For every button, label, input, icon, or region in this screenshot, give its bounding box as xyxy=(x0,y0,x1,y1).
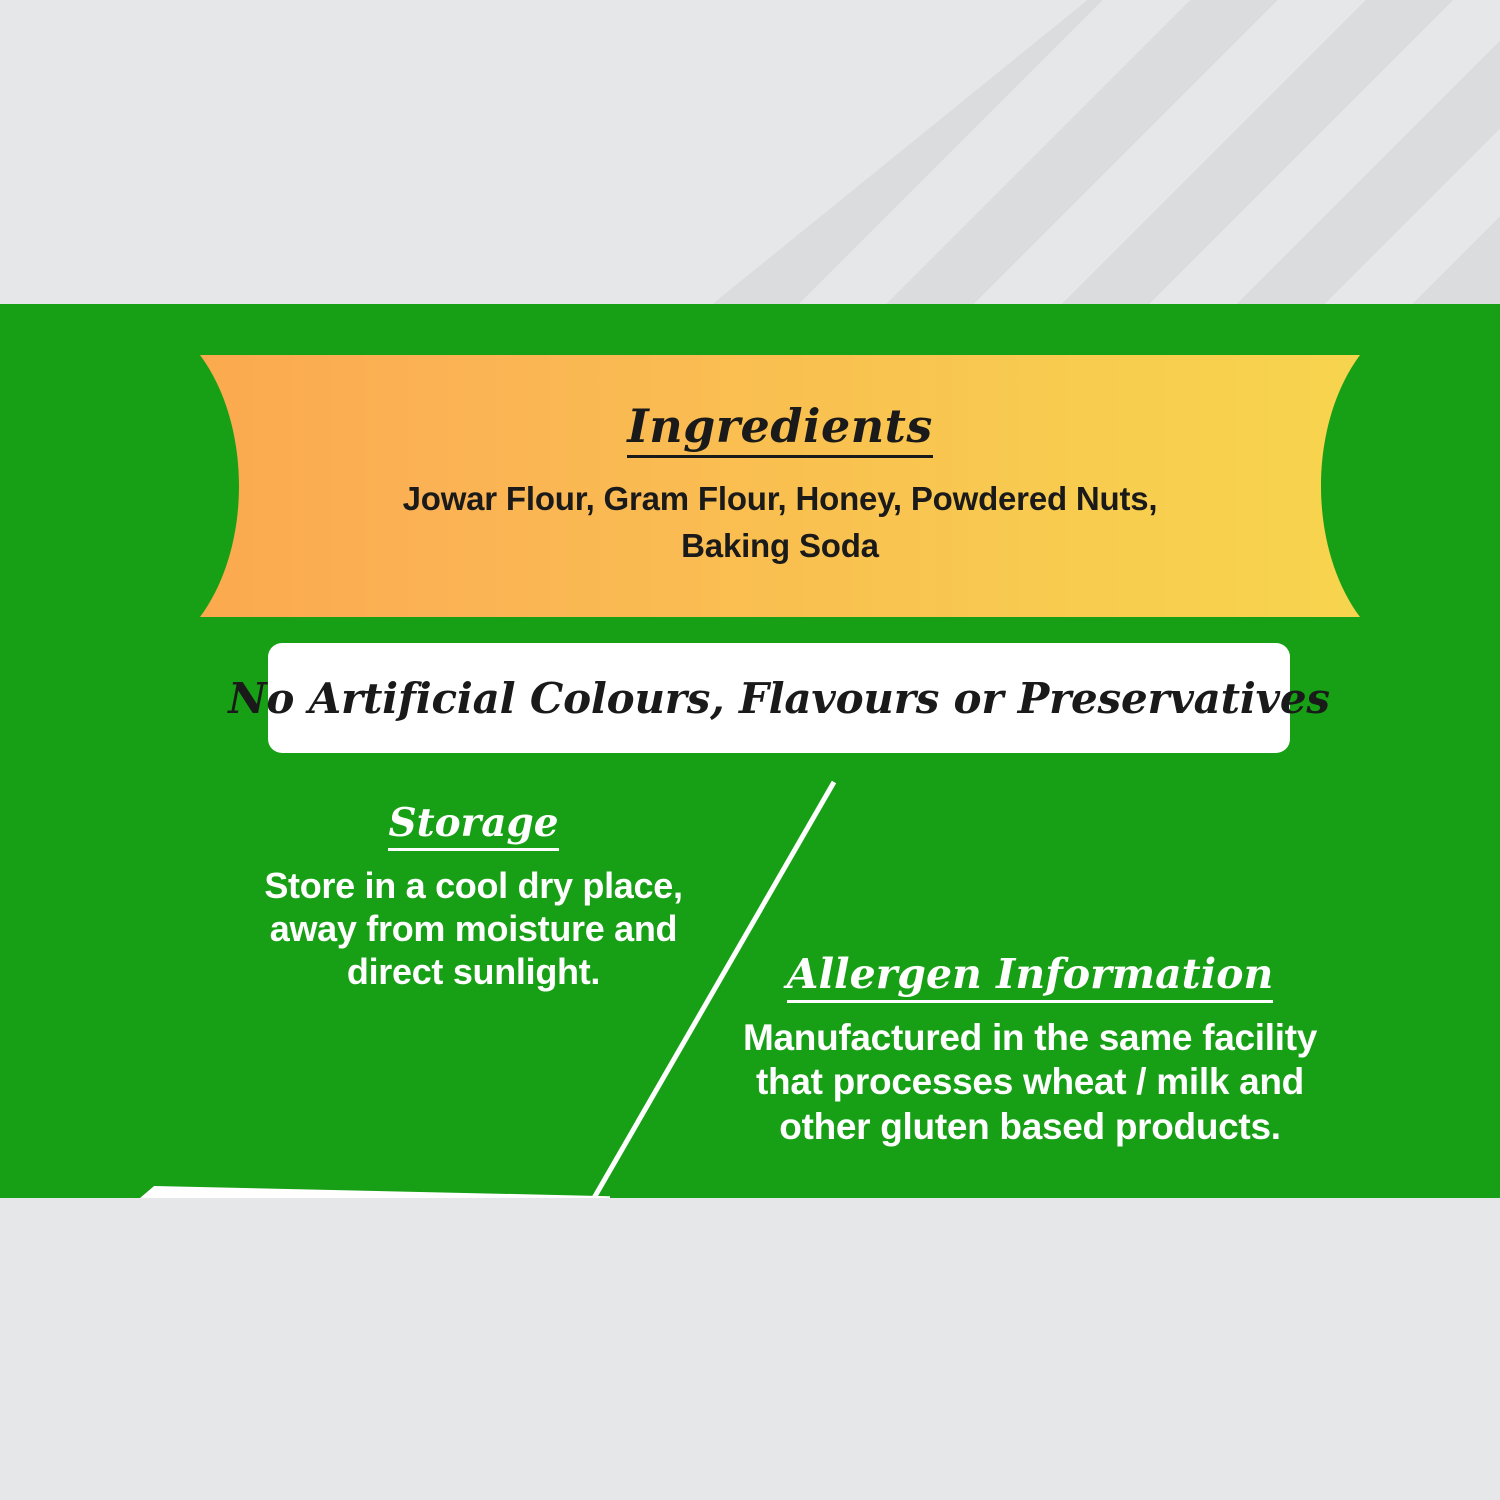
storage-line-3: direct sunlight. xyxy=(237,950,710,993)
storage-body: Store in a cool dry place, away from moi… xyxy=(237,864,710,994)
ingredients-list: Jowar Flour, Gram Flour, Honey, Powdered… xyxy=(403,476,1158,570)
storage-line-2: away from moisture and xyxy=(237,907,710,950)
allergen-line-3: other gluten based products. xyxy=(700,1105,1360,1149)
storage-title: Storage xyxy=(388,802,558,851)
ingredients-block: Ingredients Jowar Flour, Gram Flour, Hon… xyxy=(200,355,1360,617)
storage-line-1: Store in a cool dry place, xyxy=(237,864,710,907)
allergen-line-1: Manufactured in the same facility xyxy=(700,1016,1360,1060)
ingredients-line-1: Jowar Flour, Gram Flour, Honey, Powdered… xyxy=(403,476,1158,523)
no-artificial-claim-banner: No Artificial Colours, Flavours or Prese… xyxy=(268,643,1290,753)
no-artificial-claim-text: No Artificial Colours, Flavours or Prese… xyxy=(228,674,1330,723)
ingredients-title: Ingredients xyxy=(627,402,933,457)
diagonal-stripes-pattern xyxy=(0,0,1500,304)
ingredients-line-2: Baking Soda xyxy=(403,523,1158,570)
allergen-block: Allergen Information Manufactured in the… xyxy=(700,952,1360,1149)
allergen-line-2: that processes wheat / milk and xyxy=(700,1060,1360,1104)
storage-block: Storage Store in a cool dry place, away … xyxy=(237,802,710,993)
packaging-label-canvas: Ingredients Jowar Flour, Gram Flour, Hon… xyxy=(0,0,1500,1500)
bottom-white-sliver xyxy=(140,1186,610,1198)
green-info-panel: Ingredients Jowar Flour, Gram Flour, Hon… xyxy=(0,304,1500,1198)
allergen-body: Manufactured in the same facility that p… xyxy=(700,1016,1360,1149)
diagonal-stripe-band xyxy=(0,0,1500,304)
allergen-title: Allergen Information xyxy=(787,952,1274,1003)
